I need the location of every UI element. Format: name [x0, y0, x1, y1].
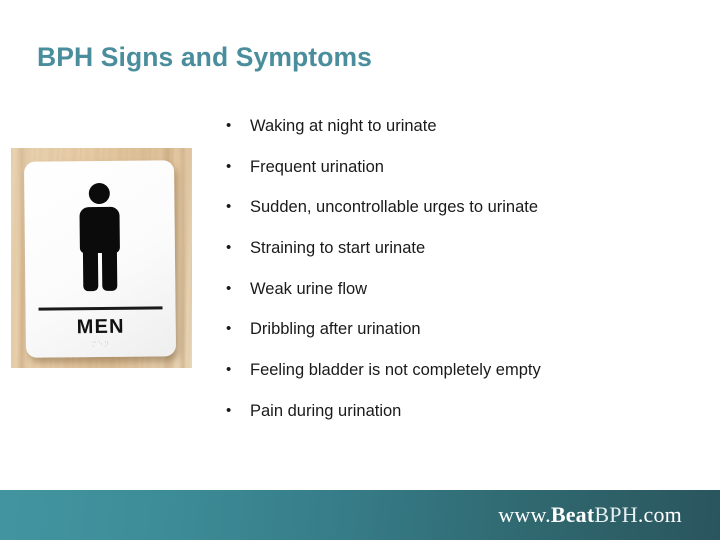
list-item: • Straining to start urinate	[222, 236, 692, 277]
symptoms-list: • Waking at night to urinate • Frequent …	[222, 114, 692, 440]
list-item: • Sudden, uncontrollable urges to urinat…	[222, 195, 692, 236]
bullet-marker-icon: •	[222, 358, 250, 382]
list-item-label: Sudden, uncontrollable urges to urinate	[250, 195, 538, 219]
list-item-label: Frequent urination	[250, 155, 384, 179]
list-item-label: Weak urine flow	[250, 277, 367, 301]
slide-canvas: BPH Signs and Symptoms MEN ⠍⠑⠝ • Waking …	[0, 0, 720, 540]
figure-head	[89, 183, 110, 204]
bullet-marker-icon: •	[222, 317, 250, 341]
male-figure-icon	[76, 183, 123, 291]
list-item: • Waking at night to urinate	[222, 114, 692, 155]
figure-leg-left	[83, 249, 98, 291]
bullet-marker-icon: •	[222, 195, 250, 219]
bullet-marker-icon: •	[222, 399, 250, 423]
list-item: • Weak urine flow	[222, 277, 692, 318]
figure-leg-right	[102, 249, 117, 291]
list-item-label: Waking at night to urinate	[250, 114, 437, 138]
footer-bar: www.BeatBPH.com	[0, 490, 720, 540]
bullet-marker-icon: •	[222, 277, 250, 301]
url-part-com: .com	[638, 502, 682, 527]
page-title: BPH Signs and Symptoms	[37, 42, 372, 74]
bullet-marker-icon: •	[222, 155, 250, 179]
url-part-www: www.	[498, 502, 551, 527]
braille-dots: ⠍⠑⠝	[26, 340, 176, 350]
figure-torso	[79, 207, 119, 253]
list-item-label: Dribbling after urination	[250, 317, 421, 341]
url-part-beat: Beat	[551, 502, 595, 527]
sign-label: MEN	[26, 315, 176, 340]
list-item-label: Feeling bladder is not completely empty	[250, 358, 541, 382]
mens-restroom-sign-photo: MEN ⠍⠑⠝	[11, 148, 192, 368]
url-part-bph: BPH	[594, 502, 637, 527]
footer-website-url: www.BeatBPH.com	[498, 502, 682, 528]
list-item-label: Pain during urination	[250, 399, 401, 423]
list-item: • Pain during urination	[222, 399, 692, 440]
bullet-marker-icon: •	[222, 236, 250, 260]
list-item: • Frequent urination	[222, 155, 692, 196]
sign-divider	[39, 306, 163, 310]
wood-grain-streak	[179, 148, 187, 368]
list-item: • Feeling bladder is not completely empt…	[222, 358, 692, 399]
bullet-marker-icon: •	[222, 114, 250, 138]
list-item: • Dribbling after urination	[222, 317, 692, 358]
list-item-label: Straining to start urinate	[250, 236, 425, 260]
restroom-sign-card: MEN ⠍⠑⠝	[24, 160, 176, 358]
